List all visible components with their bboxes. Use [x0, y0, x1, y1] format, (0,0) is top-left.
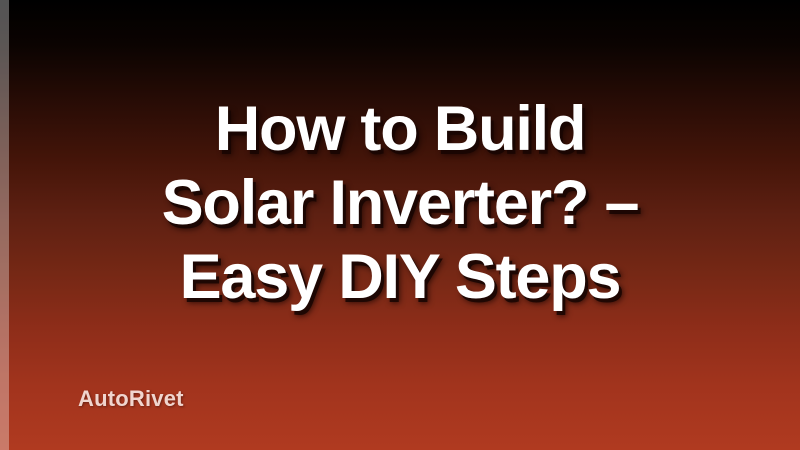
title-line-1: How to Build: [28, 92, 772, 166]
title-line-3: Easy DIY Steps: [28, 240, 772, 314]
page-title: How to Build Solar Inverter? – Easy DIY …: [0, 92, 800, 314]
brand-logo-text: AutoRivet: [78, 386, 184, 412]
title-line-2: Solar Inverter? –: [28, 166, 772, 240]
title-card: How to Build Solar Inverter? – Easy DIY …: [0, 0, 800, 450]
